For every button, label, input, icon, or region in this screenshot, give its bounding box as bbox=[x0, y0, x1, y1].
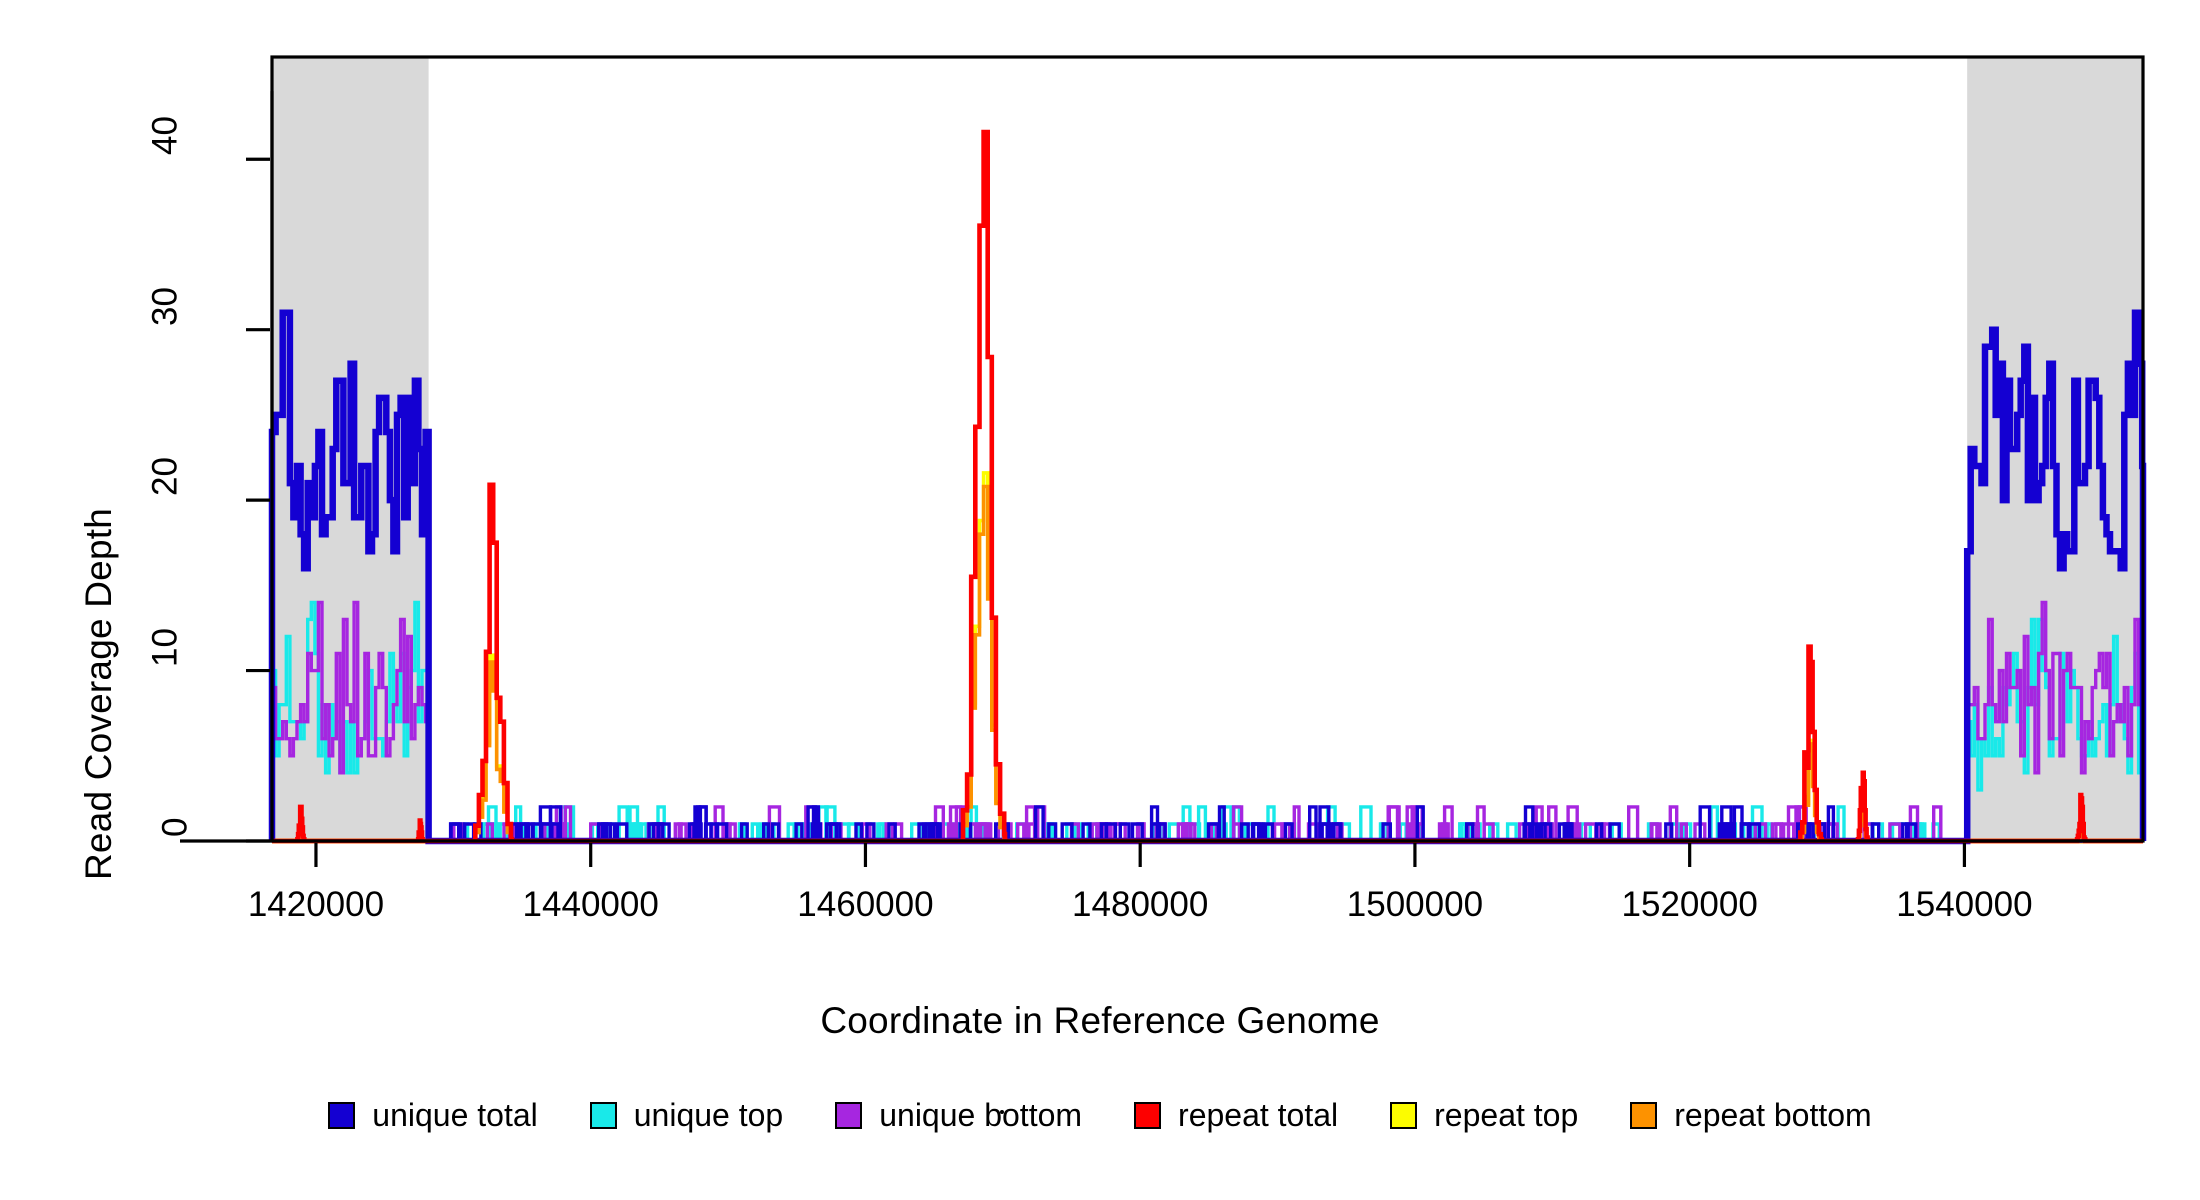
x-tick-label-6: 1540000 bbox=[1896, 885, 2032, 925]
legend: unique totalunique topunique bottomrepea… bbox=[0, 1085, 2200, 1145]
x-tick-label-4: 1500000 bbox=[1347, 885, 1483, 925]
series-repeat-total bbox=[272, 132, 2143, 841]
legend-label-unique-top: unique top bbox=[634, 1097, 783, 1134]
legend-swatch-repeat-top bbox=[1390, 1102, 1417, 1129]
x-tick-label-1: 1440000 bbox=[523, 885, 659, 925]
y-tick-label-3: 30 bbox=[146, 287, 186, 326]
x-axis-title: Coordinate in Reference Genome bbox=[0, 1000, 2200, 1042]
x-tick-label-5: 1520000 bbox=[1622, 885, 1758, 925]
legend-swatch-unique-bottom bbox=[835, 1102, 862, 1129]
legend-swatch-unique-total bbox=[328, 1102, 355, 1129]
y-tick-label-4: 40 bbox=[146, 116, 186, 155]
legend-item-unique-total[interactable]: unique total bbox=[328, 1097, 537, 1134]
plot-root: Read Coverage Depth Coordinate in Refere… bbox=[0, 0, 2200, 1200]
y-axis-title: Read Coverage Depth bbox=[78, 508, 120, 880]
series-unique-total bbox=[272, 313, 2143, 841]
x-tick-label-3: 1480000 bbox=[1072, 885, 1208, 925]
legend-item-unique-top[interactable]: unique top bbox=[590, 1097, 783, 1134]
y-tick-label-1: 10 bbox=[146, 628, 186, 667]
legend-item-repeat-total[interactable]: repeat total bbox=[1134, 1097, 1338, 1134]
plot-border bbox=[272, 57, 2143, 841]
y-tick-label-0: 0 bbox=[155, 818, 195, 837]
legend-item-repeat-bottom[interactable]: repeat bottom bbox=[1630, 1097, 1871, 1134]
x-tick-label-0: 1420000 bbox=[248, 885, 384, 925]
legend-item-unique-bottom[interactable]: unique bottom bbox=[835, 1097, 1082, 1134]
legend-swatch-repeat-bottom bbox=[1630, 1102, 1657, 1129]
legend-item-repeat-top[interactable]: repeat top bbox=[1390, 1097, 1578, 1134]
legend-label-repeat-bottom: repeat bottom bbox=[1674, 1097, 1871, 1134]
legend-swatch-unique-top bbox=[590, 1102, 617, 1129]
stray-dot-marker bbox=[1000, 1110, 1004, 1114]
legend-label-repeat-total: repeat total bbox=[1178, 1097, 1338, 1134]
legend-swatch-repeat-total bbox=[1134, 1102, 1161, 1129]
legend-label-repeat-top: repeat top bbox=[1434, 1097, 1578, 1134]
legend-label-unique-total: unique total bbox=[372, 1097, 537, 1134]
legend-label-unique-bottom: unique bottom bbox=[879, 1097, 1082, 1134]
y-tick-label-2: 20 bbox=[146, 457, 186, 496]
x-tick-label-2: 1460000 bbox=[797, 885, 933, 925]
